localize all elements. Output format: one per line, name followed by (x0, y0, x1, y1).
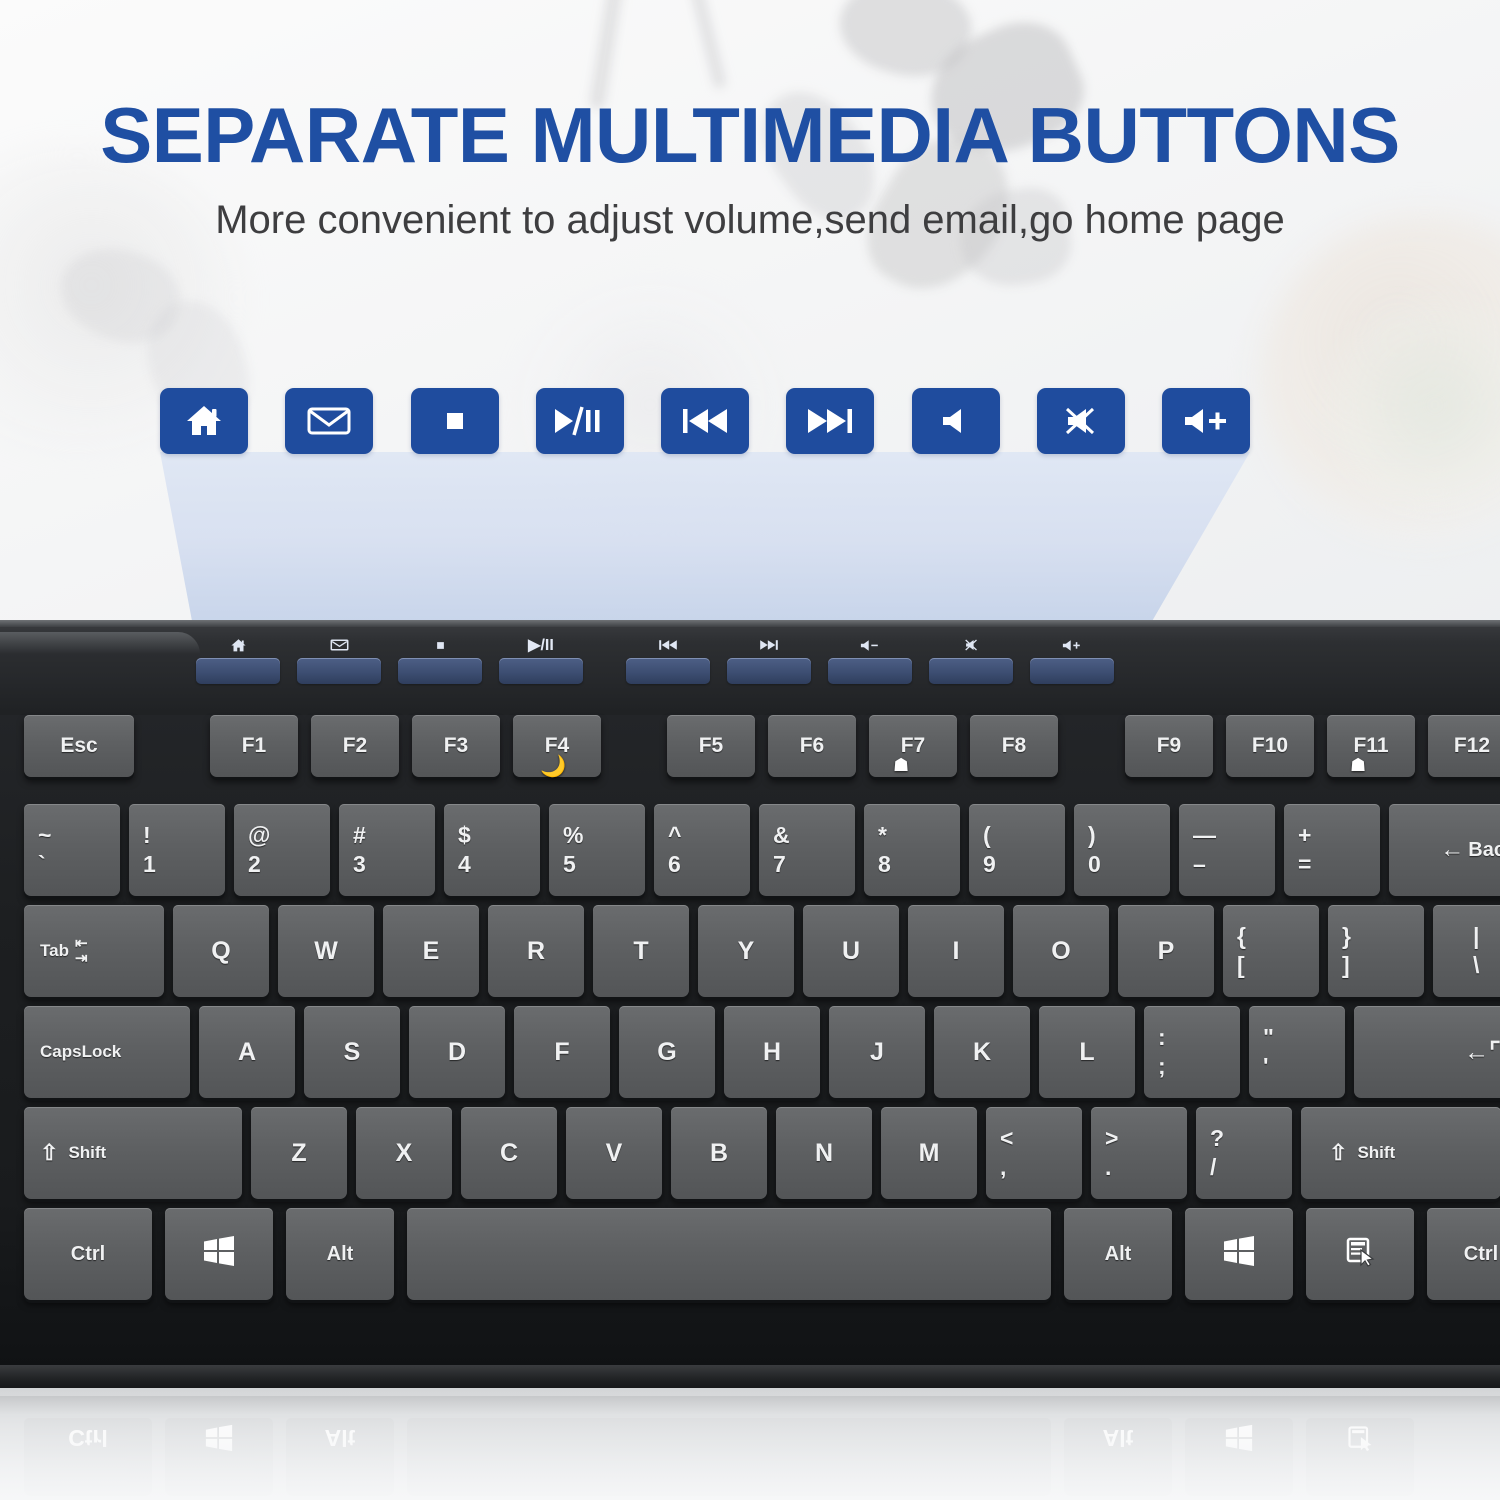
windows-icon (1222, 1235, 1256, 1274)
speaker-plus-icon (1182, 406, 1230, 436)
key-slash[interactable]: ? / (1196, 1107, 1292, 1199)
key-bracket-right[interactable]: } ] (1328, 905, 1424, 997)
key-4[interactable]: $ 4 (444, 804, 540, 896)
keyboard-function-row: Esc F1 F2 F3 F4 F5 F6 F7 F8 F9 F10 F11 F… (0, 715, 1500, 777)
key-f10[interactable]: F10 (1226, 715, 1314, 777)
key-l[interactable]: L (1039, 1006, 1135, 1098)
menu-key-icon (1344, 1235, 1376, 1274)
key-f6[interactable]: F6 (768, 715, 856, 777)
stop-button[interactable] (411, 388, 499, 454)
key-upper-label: # (353, 824, 366, 847)
key-shift-label: Shift (68, 1143, 106, 1163)
key-upper-label: * (878, 824, 887, 847)
enter-arrow-icon: ←⌜ (1464, 1037, 1500, 1067)
key-esc[interactable]: Esc (24, 715, 134, 777)
key-f11[interactable]: F11 (1327, 715, 1415, 777)
page-subtitle: More convenient to adjust volume,send em… (0, 196, 1500, 244)
key-upper-label: ^ (668, 824, 681, 847)
key-alt-left[interactable]: Alt (286, 1208, 394, 1300)
speaker-icon (939, 406, 973, 436)
key-p[interactable]: P (1118, 905, 1214, 997)
key-quote[interactable]: " ' (1249, 1006, 1345, 1098)
key-0[interactable]: ) 0 (1074, 804, 1170, 896)
key-lower-label: – (1193, 853, 1206, 876)
key-win-right[interactable] (1185, 1208, 1293, 1300)
key-semicolon[interactable]: : ; (1144, 1006, 1240, 1098)
power-icon: ☗ (1350, 755, 1366, 776)
mute-button[interactable] (1037, 388, 1125, 454)
key-z[interactable]: Z (251, 1107, 347, 1199)
key-backtick[interactable]: ~ ` (24, 804, 120, 896)
key-lower-label: 8 (878, 853, 891, 876)
key-backslash[interactable]: | \ (1433, 905, 1500, 997)
key-upper-label: { (1237, 925, 1246, 948)
key-n[interactable]: N (776, 1107, 872, 1199)
key-u[interactable]: U (803, 905, 899, 997)
key-f1[interactable]: F1 (210, 715, 298, 777)
keyboard-media-key-strip: ▶/II (196, 630, 1136, 708)
stop-icon (443, 409, 467, 433)
keyboard-body: Esc F1 F2 F3 F4 F5 F6 F7 F8 F9 F10 F11 F… (0, 715, 1500, 1390)
key-lower-label: 6 (668, 853, 681, 876)
key-q[interactable]: Q (173, 905, 269, 997)
key-media-next[interactable] (727, 658, 811, 684)
key-f3[interactable]: F3 (412, 715, 500, 777)
home-icon (196, 635, 280, 655)
key-lower-label: 0 (1088, 853, 1101, 876)
key-lower-label: ` (38, 853, 46, 876)
key-g[interactable]: G (619, 1006, 715, 1098)
key-upper-label: & (773, 824, 790, 847)
key-minus[interactable]: — – (1179, 804, 1275, 896)
multimedia-button-row (160, 386, 1250, 456)
key-alt-right[interactable]: Alt (1064, 1208, 1172, 1300)
key-space[interactable] (407, 1208, 1051, 1300)
key-f7[interactable]: F7 (869, 715, 957, 777)
key-lower-label: / (1210, 1156, 1216, 1179)
key-lower-label: 7 (773, 853, 786, 876)
key-f9[interactable]: F9 (1125, 715, 1213, 777)
key-upper-label: : (1158, 1026, 1166, 1049)
backspace-arrow-icon: ← (1440, 836, 1464, 864)
key-backspace[interactable]: ← BackSpace (1389, 804, 1500, 896)
key-upper-label: $ (458, 824, 471, 847)
key-period[interactable]: > . (1091, 1107, 1187, 1199)
keyboard-photo: ▶/II Esc (0, 620, 1500, 1390)
speaker-mute-icon (929, 635, 1013, 655)
speaker-minus-icon (828, 635, 912, 655)
stop-icon (398, 635, 482, 655)
key-shift-label: Shift (1357, 1143, 1395, 1163)
shift-arrow-icon: ⇧ (40, 1140, 58, 1166)
key-k[interactable]: K (934, 1006, 1030, 1098)
key-e[interactable]: E (383, 905, 479, 997)
email-button[interactable] (285, 388, 373, 454)
home-button[interactable] (160, 388, 248, 454)
key-3[interactable]: # 3 (339, 804, 435, 896)
key-media-home[interactable] (196, 658, 280, 684)
key-lower-label: = (1298, 853, 1311, 876)
key-upper-label: } (1342, 925, 1351, 948)
key-bracket-left[interactable]: { [ (1223, 905, 1319, 997)
key-m[interactable]: M (881, 1107, 977, 1199)
key-1[interactable]: ! 1 (129, 804, 225, 896)
key-f8[interactable]: F8 (970, 715, 1058, 777)
key-9[interactable]: ( 9 (969, 804, 1065, 896)
key-upper-label: + (1298, 824, 1311, 847)
key-capslock[interactable]: CapsLock (24, 1006, 190, 1098)
key-lower-label: \ (1473, 954, 1479, 977)
key-r[interactable]: R (488, 905, 584, 997)
product-marketing-image: SEPARATE MULTIMEDIA BUTTONS More conveni… (0, 0, 1500, 1500)
reflection-fade-overlay (0, 1388, 1500, 1500)
play-pause-button[interactable] (536, 388, 624, 454)
key-lower-label: 4 (458, 853, 471, 876)
key-enter[interactable]: ←⌜ Enter (1354, 1006, 1500, 1098)
key-upper-label: % (563, 824, 583, 847)
keyboard-number-row: ~ ` ! 1 @ 2 # 3 $ 4 % 5 ^ (0, 804, 1500, 896)
speaker-plus-icon (1030, 635, 1114, 655)
key-5[interactable]: % 5 (549, 804, 645, 896)
key-o[interactable]: O (1013, 905, 1109, 997)
volume-up-button[interactable] (1162, 388, 1250, 454)
key-comma[interactable]: < , (986, 1107, 1082, 1199)
key-win-left[interactable] (165, 1208, 273, 1300)
windows-icon (202, 1235, 236, 1274)
key-tab-label: Tab (40, 941, 69, 961)
key-media-play-pause[interactable] (499, 658, 583, 684)
key-7[interactable]: & 7 (759, 804, 855, 896)
key-equals[interactable]: + = (1284, 804, 1380, 896)
key-backspace-label: BackSpace (1468, 839, 1500, 862)
key-lower-label: ] (1342, 954, 1350, 977)
key-media-volume-up[interactable] (1030, 658, 1114, 684)
key-a[interactable]: A (199, 1006, 295, 1098)
key-upper-label: < (1000, 1127, 1013, 1150)
key-lower-label: ' (1263, 1055, 1268, 1078)
key-lower-label: 9 (983, 853, 996, 876)
play-pause-icon (552, 405, 608, 437)
previous-button[interactable] (661, 388, 749, 454)
next-track-icon (805, 406, 855, 436)
key-s[interactable]: S (304, 1006, 400, 1098)
key-upper-label: ! (143, 824, 151, 847)
key-lower-label: 1 (143, 853, 156, 876)
key-f2[interactable]: F2 (311, 715, 399, 777)
key-upper-label: ? (1210, 1127, 1224, 1150)
key-x[interactable]: X (356, 1107, 452, 1199)
key-media-previous[interactable] (626, 658, 710, 684)
key-media-mute[interactable] (929, 658, 1013, 684)
key-f[interactable]: F (514, 1006, 610, 1098)
key-lower-label: [ (1237, 954, 1245, 977)
key-upper-label: ~ (38, 824, 51, 847)
key-upper-label: @ (248, 824, 270, 847)
sleep-moon-icon: 🌙 (540, 755, 566, 779)
key-6[interactable]: ^ 6 (654, 804, 750, 896)
key-lower-label: 3 (353, 853, 366, 876)
key-f5[interactable]: F5 (667, 715, 755, 777)
keyboard-home-row: CapsLock A S D F G H J K L : ; " ' ←⌜ En… (0, 1006, 1500, 1098)
key-d[interactable]: D (409, 1006, 505, 1098)
key-upper-label: ( (983, 824, 991, 847)
key-lower-label: ; (1158, 1055, 1166, 1078)
keyboard-modifier-row: Ctrl Alt Alt (0, 1208, 1500, 1300)
key-shift-left[interactable]: ⇧ Shift (24, 1107, 242, 1199)
envelope-icon (297, 635, 381, 655)
volume-down-button[interactable] (912, 388, 1000, 454)
key-upper-label: > (1105, 1127, 1118, 1150)
key-lower-label: 2 (248, 853, 261, 876)
wake-icon: ☗ (893, 755, 909, 776)
key-ctrl-left[interactable]: Ctrl (24, 1208, 152, 1300)
shift-arrow-icon: ⇧ (1329, 1140, 1347, 1166)
key-tab[interactable]: Tab ⇤⇥ (24, 905, 164, 997)
key-t[interactable]: T (593, 905, 689, 997)
speaker-mute-icon (1063, 405, 1099, 437)
keyboard-reflection: Ctrl Alt Alt (0, 1388, 1500, 1500)
key-lower-label: . (1105, 1156, 1111, 1179)
page-title: SEPARATE MULTIMEDIA BUTTONS (0, 96, 1500, 174)
key-j[interactable]: J (829, 1006, 925, 1098)
key-8[interactable]: * 8 (864, 804, 960, 896)
previous-track-icon (626, 635, 710, 655)
key-h[interactable]: H (724, 1006, 820, 1098)
next-button[interactable] (786, 388, 874, 454)
key-upper-label: " (1263, 1026, 1274, 1049)
key-w[interactable]: W (278, 905, 374, 997)
key-i[interactable]: I (908, 905, 1004, 997)
next-track-icon (727, 635, 811, 655)
keyboard-base-edge (0, 1365, 1500, 1390)
key-shift-right[interactable]: ⇧ Shift (1301, 1107, 1500, 1199)
key-upper-label: ) (1088, 824, 1096, 847)
key-media-volume-down[interactable] (828, 658, 912, 684)
key-ctrl-right[interactable]: Ctrl (1427, 1208, 1500, 1300)
key-media-email[interactable] (297, 658, 381, 684)
key-c[interactable]: C (461, 1107, 557, 1199)
home-icon (184, 403, 224, 439)
play-pause-icon: ▶/II (499, 635, 583, 655)
key-b[interactable]: B (671, 1107, 767, 1199)
key-lower-label: , (1000, 1156, 1006, 1179)
key-upper-label: — (1193, 824, 1216, 847)
keyboard-shift-row: ⇧ Shift Z X C V B N M < , > . ? / (0, 1107, 1500, 1199)
keyboard-qwerty-row: Tab ⇤⇥ Q W E R T Y U I O P { [ } ] (0, 905, 1500, 997)
key-v[interactable]: V (566, 1107, 662, 1199)
key-upper-label: | (1473, 925, 1479, 948)
tab-arrows-icon: ⇤⇥ (75, 936, 88, 966)
key-f12[interactable]: F12 (1428, 715, 1500, 777)
key-lower-label: 5 (563, 853, 576, 876)
key-media-stop[interactable] (398, 658, 482, 684)
envelope-icon (307, 405, 351, 437)
key-2[interactable]: @ 2 (234, 804, 330, 896)
key-y[interactable]: Y (698, 905, 794, 997)
previous-track-icon (680, 406, 730, 436)
key-menu[interactable] (1306, 1208, 1414, 1300)
